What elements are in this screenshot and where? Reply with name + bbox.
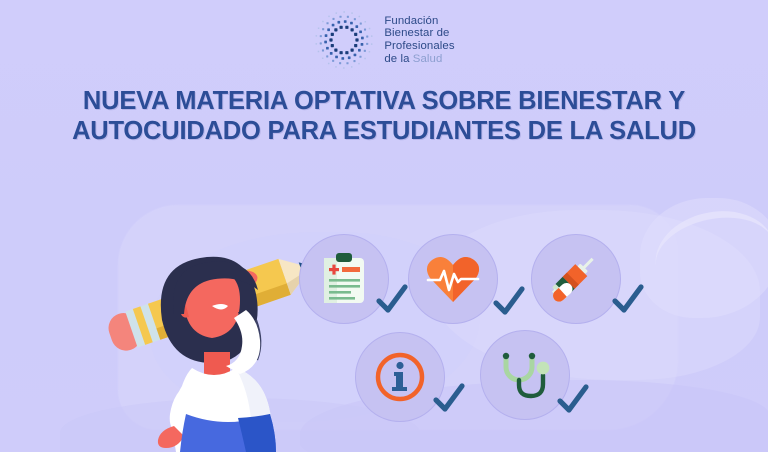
clipboard-medical-chart-icon bbox=[321, 253, 367, 305]
icon-circle-stethoscope[interactable] bbox=[480, 330, 570, 420]
stethoscope-icon bbox=[498, 349, 552, 401]
brand-logo: Fundación Bienestar de Profesionales de … bbox=[0, 9, 768, 71]
logo-line-4-accent: Salud bbox=[413, 53, 443, 65]
checkmark-heart-pulse bbox=[492, 285, 526, 324]
logo-line-1: Fundación bbox=[384, 15, 454, 28]
icon-circle-info[interactable] bbox=[355, 332, 445, 422]
syringe-pill-icon bbox=[548, 251, 604, 307]
background-swoosh bbox=[647, 200, 768, 310]
logo-line-3: Profesionales bbox=[384, 40, 454, 53]
logo-line-2: Bienestar de bbox=[384, 27, 454, 40]
icon-circle-syringe-pill[interactable] bbox=[531, 234, 621, 324]
icon-circle-heart-pulse[interactable] bbox=[408, 234, 498, 324]
poster-canvas: Fundación Bienestar de Profesionales de … bbox=[0, 0, 768, 452]
info-circle-icon bbox=[374, 351, 426, 403]
icon-circle-clipboard-medical-chart[interactable] bbox=[299, 234, 389, 324]
brand-logo-text: Fundación Bienestar de Profesionales de … bbox=[384, 15, 454, 65]
dotted-circle-logo-mark bbox=[313, 9, 375, 71]
logo-line-4: de la Salud bbox=[384, 53, 454, 66]
logo-line-4-prefix: de la bbox=[384, 53, 412, 65]
heart-pulse-icon bbox=[426, 254, 480, 304]
page-title: NUEVA MATERIA OPTATIVA SOBRE BIENESTAR Y… bbox=[52, 86, 716, 146]
